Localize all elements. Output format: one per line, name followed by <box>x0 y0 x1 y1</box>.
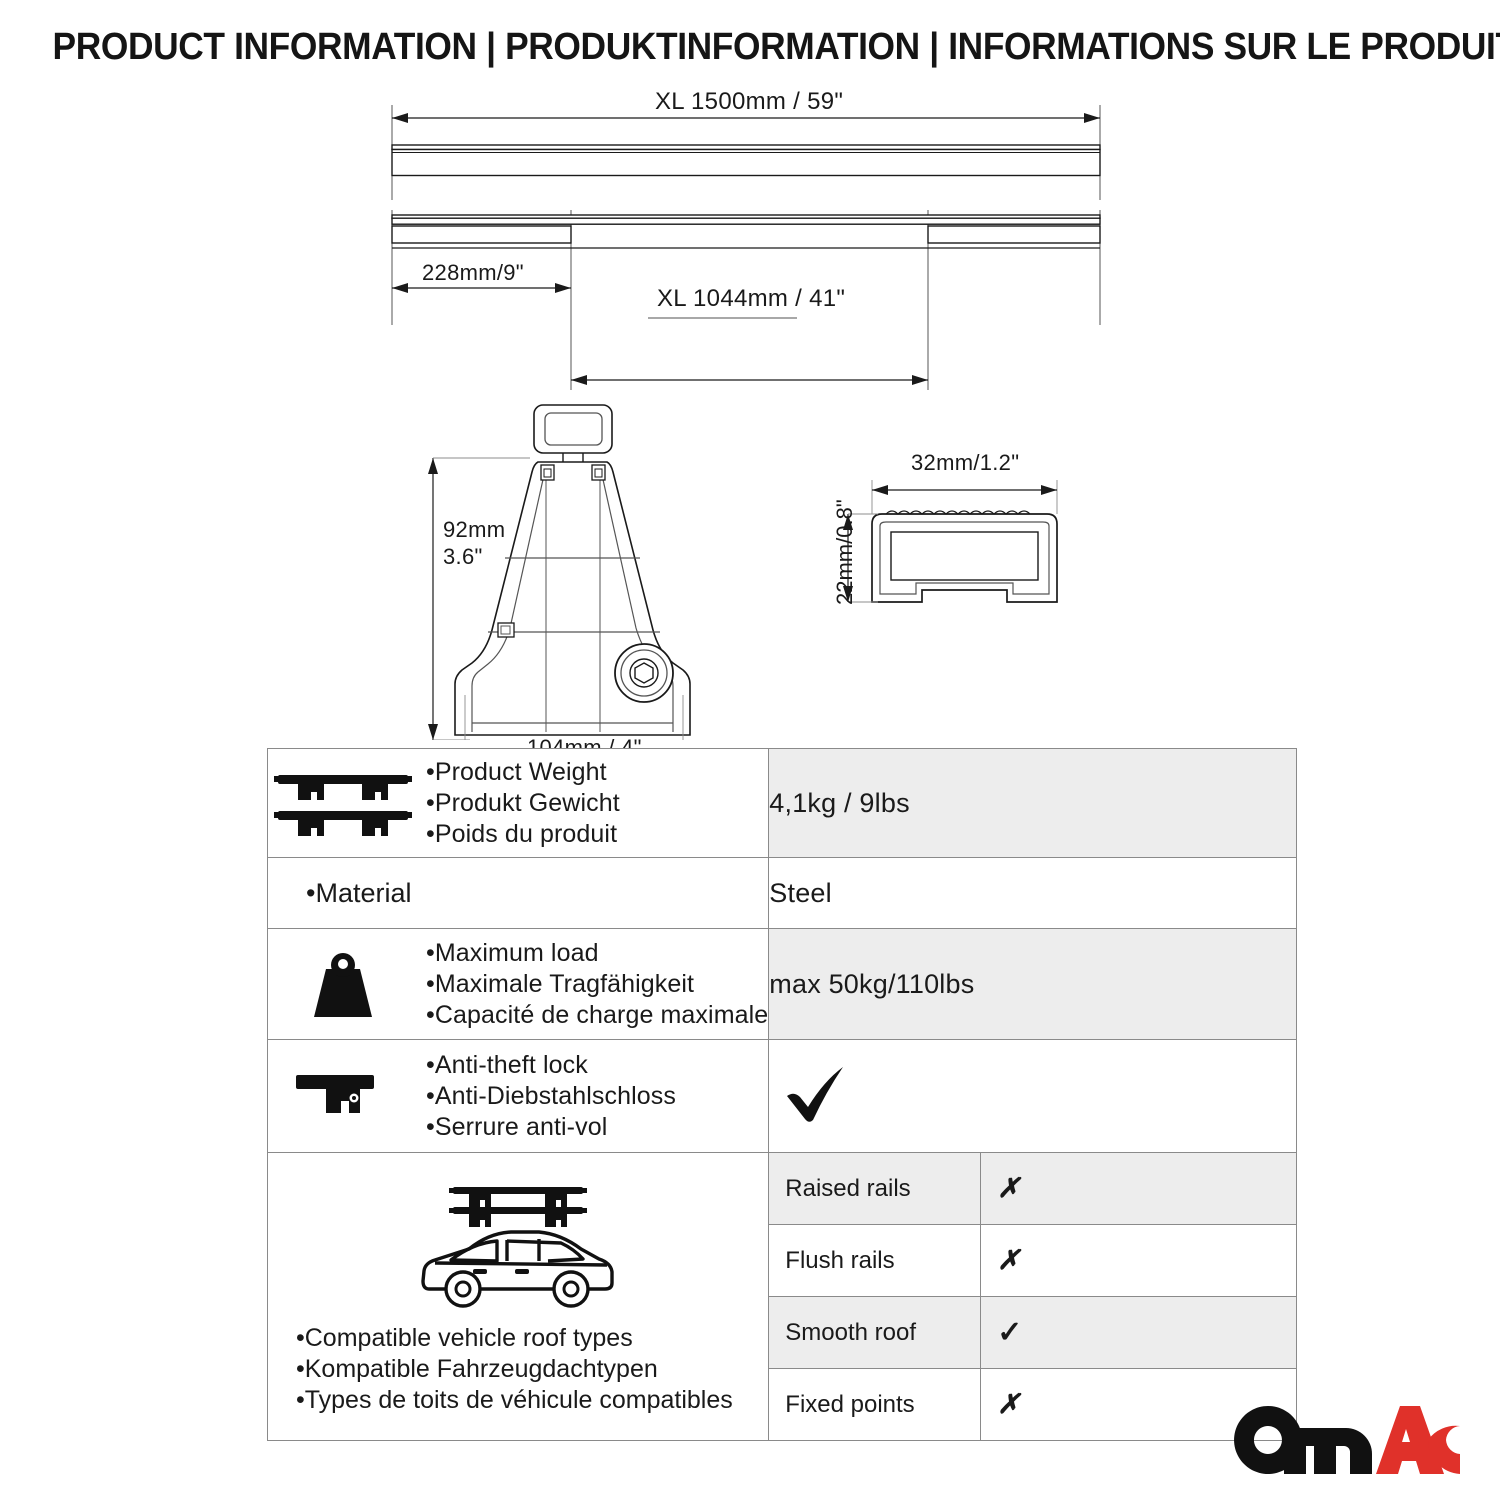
rooftypes-label-cell: •Compatible vehicle roof types •Kompatib… <box>268 1153 769 1441</box>
table-row: •Compatible vehicle roof types •Kompatib… <box>268 1153 1297 1441</box>
lock-label-cell: •Anti-theft lock •Anti-Diebstahlschloss … <box>268 1040 769 1153</box>
roof-type-mark: ✗ <box>981 1225 1296 1297</box>
maxload-label-text: •Maximum load •Maximale Tragfähigkeit •C… <box>426 938 768 1031</box>
rooftypes-label-text: •Compatible vehicle roof types •Kompatib… <box>268 1323 768 1416</box>
profile-width-dimension: 32mm/1.2" <box>911 450 1019 476</box>
lock-label-text: •Anti-theft lock •Anti-Diebstahlschloss … <box>426 1050 676 1143</box>
table-row: •Material Steel <box>268 858 1297 929</box>
roof-type-name: Flush rails <box>769 1225 981 1297</box>
weight-label-text: •Product Weight •Produkt Gewicht •Poids … <box>426 757 620 850</box>
lock-check-icon <box>769 1062 849 1131</box>
weight-value-cell: 4,1kg / 9lbs <box>769 749 1297 858</box>
crossbars-icon <box>268 767 418 839</box>
weight-label-cell: •Product Weight •Produkt Gewicht •Poids … <box>268 749 769 858</box>
page-title: PRODUCT INFORMATION | PRODUKTINFORMATION… <box>53 26 1448 69</box>
roof-type-name: Raised rails <box>769 1153 981 1225</box>
logo-ac-red <box>1376 1406 1460 1474</box>
omac-logo <box>1232 1404 1464 1481</box>
product-information-page: PRODUCT INFORMATION | PRODUKTINFORMATION… <box>0 0 1500 1500</box>
material-label-text: •Material <box>268 878 768 909</box>
weight-icon <box>268 945 418 1023</box>
roof-type-mark: ✗ <box>981 1153 1296 1225</box>
material-label-cell: •Material <box>268 858 769 929</box>
lock-icon <box>268 1065 418 1127</box>
table-row: •Maximum load •Maximale Tragfähigkeit •C… <box>268 929 1297 1040</box>
logo-om-dark <box>1234 1406 1372 1474</box>
mount-height-mm-label: 92mm <box>443 517 505 543</box>
car-with-rack-icon <box>268 1177 768 1317</box>
roof-type-row: Flush rails ✗ <box>769 1225 1296 1297</box>
table-row: •Anti-theft lock •Anti-Diebstahlschloss … <box>268 1040 1297 1153</box>
profile-height-dimension: 22mm/0.8" <box>832 499 858 605</box>
bar-length-dimension: XL 1500mm / 59" <box>655 88 843 116</box>
technical-drawings: XL 1500mm / 59" 228mm/9" XL 1044mm / 41"… <box>0 80 1500 740</box>
roof-type-row: Raised rails ✗ <box>769 1153 1296 1225</box>
roof-types-subtable: Raised rails ✗ Flush rails ✗ <box>769 1153 1296 1440</box>
bar-span-dimension: XL 1044mm / 41" <box>657 285 845 313</box>
material-value-cell: Steel <box>769 858 1297 929</box>
roof-type-name: Fixed points <box>769 1369 981 1441</box>
roof-type-name: Smooth roof <box>769 1297 981 1369</box>
foot-offset-dimension: 228mm/9" <box>422 260 524 286</box>
roof-type-row: Fixed points ✗ <box>769 1369 1296 1441</box>
drawing-svg <box>0 80 1500 740</box>
mount-height-in-label: 3.6" <box>443 544 483 570</box>
rooftypes-value-cell: Raised rails ✗ Flush rails ✗ <box>769 1153 1297 1441</box>
table-row: •Product Weight •Produkt Gewicht •Poids … <box>268 749 1297 858</box>
maxload-label-cell: •Maximum load •Maximale Tragfähigkeit •C… <box>268 929 769 1040</box>
lock-value-cell <box>769 1040 1297 1153</box>
roof-type-mark: ✓ <box>981 1297 1296 1369</box>
specification-table: •Product Weight •Produkt Gewicht •Poids … <box>267 748 1297 1441</box>
roof-type-row: Smooth roof ✓ <box>769 1297 1296 1369</box>
maxload-value-cell: max 50kg/110lbs <box>769 929 1297 1040</box>
